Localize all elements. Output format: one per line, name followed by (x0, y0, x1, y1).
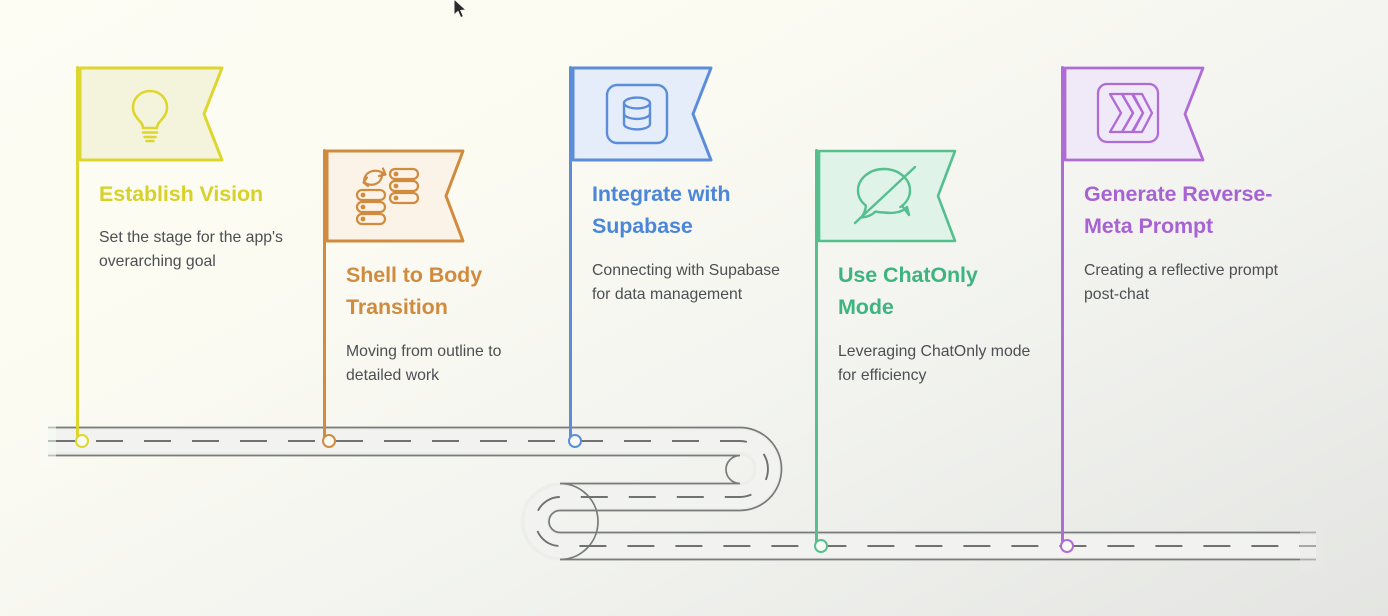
flag-generate-reverse-meta-prompt (1063, 66, 1205, 162)
milestone-node-shell-to-body-transition[interactable] (322, 434, 336, 448)
milestone-text: Integrate with Supabase Connecting with … (592, 178, 788, 307)
milestone-node-use-chatonly-mode[interactable] (814, 539, 828, 553)
lightbulb-icon (119, 84, 181, 146)
database-icon (604, 82, 670, 146)
mouse-pointer-icon (452, 0, 470, 27)
flag-shell-to-body-transition (325, 149, 465, 243)
server-stack-swap-icon (352, 164, 426, 230)
milestone-description: Connecting with Supabase for data manage… (592, 259, 788, 307)
milestone-text: Use ChatOnly Mode Leveraging ChatOnly mo… (838, 259, 1038, 388)
milestone-text: Establish Vision Set the stage for the a… (99, 178, 299, 275)
milestone-node-integrate-with-supabase[interactable] (568, 434, 582, 448)
milestone-description: Set the stage for the app's overarching … (99, 226, 299, 274)
roadmap-diagram: Establish Vision Set the stage for the a… (0, 0, 1388, 616)
milestone-text: Generate Reverse-Meta Prompt Creating a … (1084, 178, 1284, 307)
flag-integrate-with-supabase (571, 66, 713, 162)
milestone-title: Integrate with Supabase (592, 178, 788, 243)
milestone-title: Use ChatOnly Mode (838, 259, 1038, 324)
milestone-title: Establish Vision (99, 178, 299, 210)
milestone-text: Shell to Body Transition Moving from out… (346, 259, 546, 388)
milestone-title: Generate Reverse-Meta Prompt (1084, 178, 1284, 243)
flag-establish-vision (78, 66, 224, 162)
chat-disabled-icon (847, 161, 923, 233)
milestone-title: Shell to Body Transition (346, 259, 546, 324)
milestone-description: Leveraging ChatOnly mode for efficiency (838, 340, 1038, 388)
milestone-node-generate-reverse-meta-prompt[interactable] (1060, 539, 1074, 553)
flag-use-chatonly-mode (817, 149, 957, 243)
milestone-description: Creating a reflective prompt post-chat (1084, 259, 1284, 307)
triple-chevron-icon (1095, 81, 1161, 145)
milestone-description: Moving from outline to detailed work (346, 340, 546, 388)
milestone-node-establish-vision[interactable] (75, 434, 89, 448)
